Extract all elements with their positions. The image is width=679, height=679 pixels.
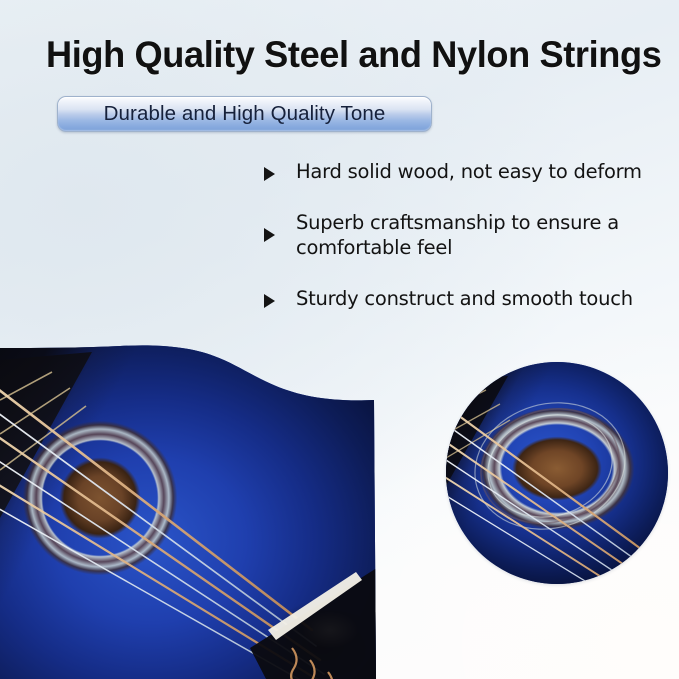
product-feature-panel: High Quality Steel and Nylon Strings Dur… [0, 0, 679, 679]
tagline-badge-label: Durable and High Quality Tone [104, 102, 386, 126]
triangle-right-icon [264, 294, 287, 308]
list-item: Sturdy construct and smooth touch [264, 286, 668, 311]
guitar-soundhole-photo-image [446, 362, 668, 584]
list-item: Superb craftsmanship to ensure a comfort… [264, 210, 668, 260]
guitar-body-photo [0, 330, 380, 679]
list-item-label: Hard solid wood, not easy to deform [296, 159, 642, 184]
list-item: Hard solid wood, not easy to deform [264, 159, 668, 184]
feature-list: Hard solid wood, not easy to deform Supe… [264, 159, 668, 311]
guitar-body-photo-image [0, 330, 380, 679]
page-title: High Quality Steel and Nylon Strings [46, 32, 625, 76]
triangle-right-icon [264, 228, 287, 242]
list-item-label: Superb craftsmanship to ensure a comfort… [296, 210, 668, 260]
triangle-right-icon [264, 167, 287, 181]
list-item-label: Sturdy construct and smooth touch [296, 286, 633, 311]
guitar-soundhole-photo [446, 362, 668, 584]
tagline-badge: Durable and High Quality Tone [57, 96, 432, 132]
